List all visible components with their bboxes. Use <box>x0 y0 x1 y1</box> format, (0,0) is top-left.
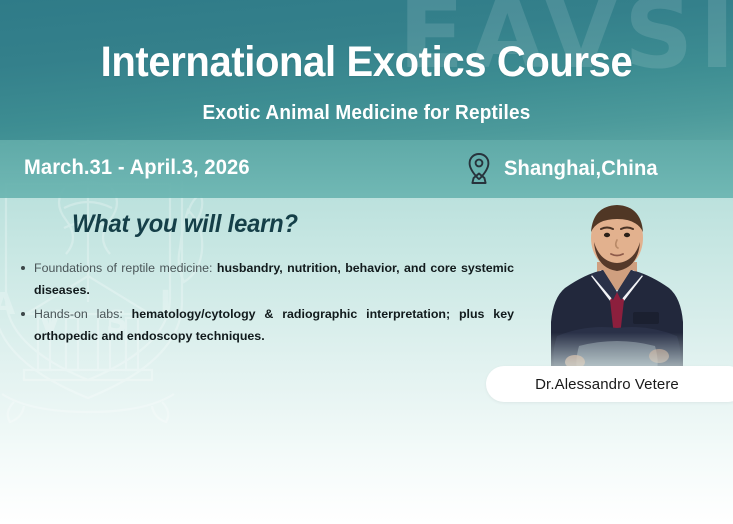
bullet-normal-text: Foundations of reptile medicine: <box>34 261 217 275</box>
event-location: Shanghai,China <box>466 152 664 186</box>
event-poster: E A V S I EAVSI International Exotics Co… <box>0 0 733 524</box>
learn-heading: What you will learn? <box>72 210 298 239</box>
speaker-name-badge: Dr.Alessandro Vetere <box>486 366 733 402</box>
event-date: March.31 - April.3, 2026 <box>24 156 250 180</box>
list-item: Foundations of reptile medicine: husband… <box>34 258 514 301</box>
list-item: Hands-on labs: hematology/cytology & rad… <box>34 304 514 347</box>
event-info-band: March.31 - April.3, 2026 Shanghai,China <box>0 140 733 198</box>
poster-header: EAVSI International Exotics Course Exoti… <box>0 0 733 140</box>
page-title: International Exotics Course <box>26 40 708 85</box>
page-subtitle: Exotic Animal Medicine for Reptiles <box>18 102 714 125</box>
speaker-name-label: Dr.Alessandro Vetere <box>535 376 697 393</box>
speaker-portrait <box>527 196 707 386</box>
learn-bullet-list: Foundations of reptile medicine: husband… <box>14 258 514 351</box>
map-pin-icon <box>466 152 492 186</box>
bullet-normal-text: Hands-on labs: <box>34 307 132 321</box>
location-label: Shanghai,China <box>504 157 658 181</box>
